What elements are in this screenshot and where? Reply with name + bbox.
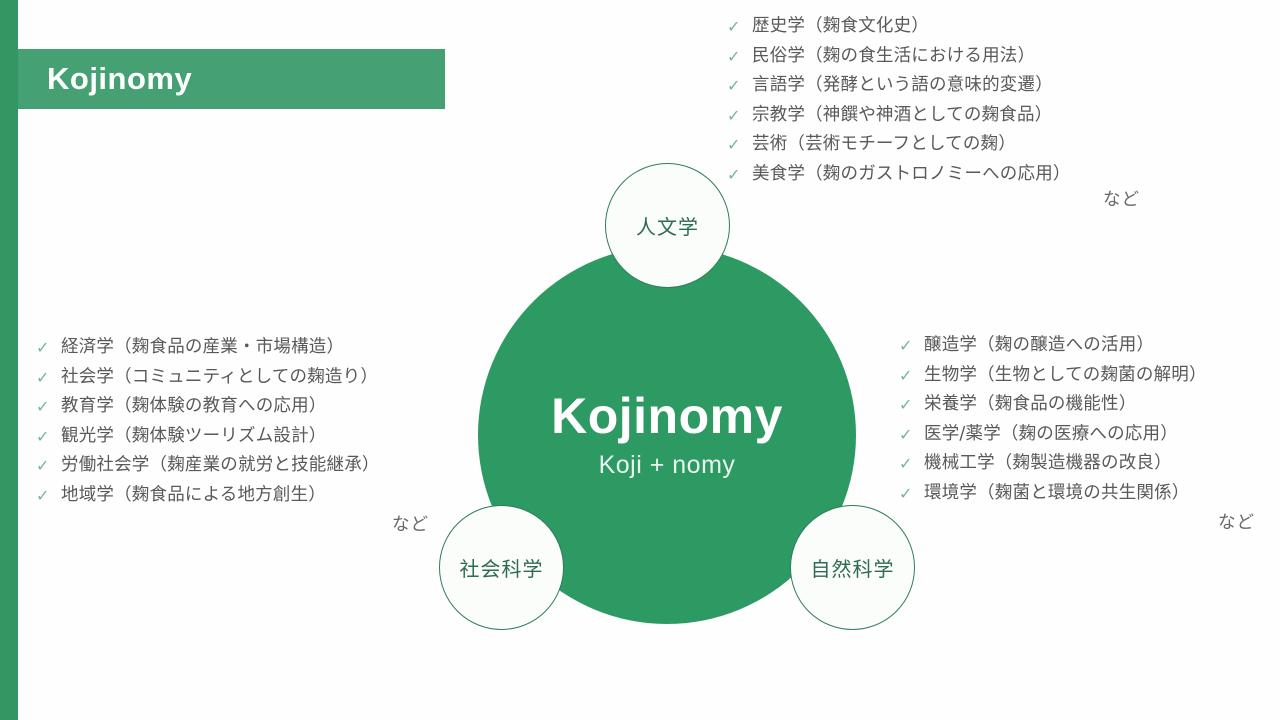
check-icon: ✓	[727, 165, 752, 184]
check-icon: ✓	[36, 338, 61, 357]
list-item-label: 地域学（麹食品による地方創生）	[61, 486, 326, 505]
list-item: ✓ 言語学（発酵という語の意味的変遷）	[727, 76, 1071, 95]
etc-label-social-science: など	[392, 511, 429, 536]
check-icon: ✓	[727, 135, 752, 154]
list-item-label: 民俗学（麹の食生活における用法）	[752, 47, 1035, 66]
list-item: ✓ 教育学（麹体験の教育への応用）	[36, 397, 380, 416]
check-icon: ✓	[36, 427, 61, 446]
page-title: Kojinomy	[18, 61, 192, 97]
left-accent-bar	[0, 0, 18, 720]
list-item: ✓ 労働社会学（麹産業の就労と技能継承）	[36, 456, 380, 475]
list-item: ✓ 歴史学（麹食文化史）	[727, 17, 1071, 36]
list-item: ✓ 栄養学（麹食品の機能性）	[899, 395, 1207, 414]
list-item: ✓ 環境学（麹菌と環境の共生関係）	[899, 484, 1207, 503]
list-item-label: 機械工学（麹製造機器の改良）	[924, 454, 1172, 473]
core-title: Kojinomy	[551, 390, 783, 443]
list-item: ✓ 生物学（生物としての麹菌の解明）	[899, 366, 1207, 385]
list-item: ✓ 美食学（麹のガストロノミーへの応用）	[727, 165, 1071, 184]
check-icon: ✓	[36, 397, 61, 416]
node-label-social-science: 社会科学	[460, 553, 544, 582]
check-icon: ✓	[727, 76, 752, 95]
list-item-label: 醸造学（麹の醸造への活用）	[924, 336, 1154, 355]
list-humanities: ✓ 歴史学（麹食文化史） ✓ 民俗学（麹の食生活における用法） ✓ 言語学（発酵…	[727, 17, 1071, 194]
list-item-label: 医学/薬学（麹の医療への応用）	[924, 425, 1178, 444]
list-item: ✓ 経済学（麹食品の産業・市場構造）	[36, 338, 380, 357]
check-icon: ✓	[899, 336, 924, 355]
list-item: ✓ 医学/薬学（麹の医療への応用）	[899, 425, 1207, 444]
list-natural-science: ✓ 醸造学（麹の醸造への活用） ✓ 生物学（生物としての麹菌の解明） ✓ 栄養学…	[899, 336, 1207, 513]
node-label-natural-science: 自然科学	[811, 553, 895, 582]
list-item: ✓ 社会学（コミュニティとしての麹造り）	[36, 368, 380, 387]
list-item: ✓ 民俗学（麹の食生活における用法）	[727, 47, 1071, 66]
node-label-humanities: 人文学	[636, 211, 699, 240]
list-item-label: 美食学（麹のガストロノミーへの応用）	[752, 165, 1071, 184]
check-icon: ✓	[899, 484, 924, 503]
slide-canvas: Kojinomy Kojinomy Koji + nomy 人文学 社会科学 自…	[0, 0, 1280, 720]
check-icon: ✓	[36, 486, 61, 505]
check-icon: ✓	[899, 454, 924, 473]
list-item-label: 歴史学（麹食文化史）	[752, 17, 929, 36]
check-icon: ✓	[36, 456, 61, 475]
node-circle-natural-science[interactable]: 自然科学	[790, 505, 915, 630]
list-item: ✓ 宗教学（神饌や神酒としての麹食品）	[727, 106, 1071, 125]
list-item-label: 社会学（コミュニティとしての麹造り）	[61, 368, 378, 387]
list-item-label: 宗教学（神饌や神酒としての麹食品）	[752, 106, 1052, 125]
list-item-label: 生物学（生物としての麹菌の解明）	[924, 366, 1207, 385]
core-subtitle: Koji + nomy	[599, 451, 736, 480]
check-icon: ✓	[899, 366, 924, 385]
check-icon: ✓	[899, 425, 924, 444]
etc-label-humanities: など	[1103, 186, 1140, 211]
check-icon: ✓	[727, 47, 752, 66]
list-item: ✓ 機械工学（麹製造機器の改良）	[899, 454, 1207, 473]
check-icon: ✓	[36, 368, 61, 387]
list-item-label: 観光学（麹体験ツーリズム設計）	[61, 427, 327, 446]
check-icon: ✓	[727, 17, 752, 36]
list-item-label: 栄養学（麹食品の機能性）	[924, 395, 1136, 414]
slide-title-bar: Kojinomy	[18, 49, 445, 109]
list-item-label: 芸術（芸術モチーフとしての麹）	[752, 135, 1016, 154]
list-item: ✓ 醸造学（麹の醸造への活用）	[899, 336, 1207, 355]
check-icon: ✓	[899, 395, 924, 414]
list-item: ✓ 芸術（芸術モチーフとしての麹）	[727, 135, 1071, 154]
list-item: ✓ 地域学（麹食品による地方創生）	[36, 486, 380, 505]
list-item-label: 環境学（麹菌と環境の共生関係）	[924, 484, 1190, 503]
node-circle-humanities[interactable]: 人文学	[605, 163, 730, 288]
list-item-label: 経済学（麹食品の産業・市場構造）	[61, 338, 344, 357]
check-icon: ✓	[727, 106, 752, 125]
etc-label-natural-science: など	[1218, 509, 1255, 534]
list-item: ✓ 観光学（麹体験ツーリズム設計）	[36, 427, 380, 446]
list-item-label: 言語学（発酵という語の意味的変遷）	[752, 76, 1053, 95]
list-item-label: 教育学（麹体験の教育への応用）	[61, 397, 327, 416]
node-circle-social-science[interactable]: 社会科学	[439, 505, 564, 630]
list-item-label: 労働社会学（麹産業の就労と技能継承）	[61, 456, 380, 475]
list-social-science: ✓ 経済学（麹食品の産業・市場構造） ✓ 社会学（コミュニティとしての麹造り） …	[36, 338, 380, 515]
